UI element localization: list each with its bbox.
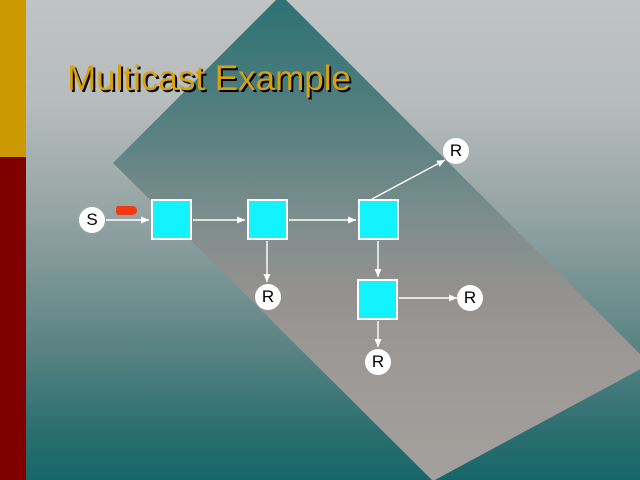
receiver-node-top[interactable]: R [443,138,469,164]
router-node-3[interactable] [358,199,399,240]
receiver-node-bottom-label: R [372,352,384,371]
receiver-node-middle-label: R [262,287,274,306]
slide-canvas: Multicast Example S R R R R [0,0,640,480]
source-node-label: S [86,210,97,229]
page-title: Multicast Example [67,59,351,99]
accent-bar-top [0,0,26,157]
receiver-node-middle[interactable]: R [255,284,281,310]
receiver-node-top-label: R [450,141,462,160]
router-node-1[interactable] [151,199,192,240]
receiver-node-bottom[interactable]: R [365,349,391,375]
receiver-node-right[interactable]: R [457,285,483,311]
packet-marker-icon [116,206,137,215]
receiver-node-right-label: R [464,288,476,307]
router-node-2[interactable] [247,199,288,240]
source-node[interactable]: S [79,207,105,233]
router-node-4[interactable] [357,279,398,320]
accent-bar-bottom [0,157,26,480]
